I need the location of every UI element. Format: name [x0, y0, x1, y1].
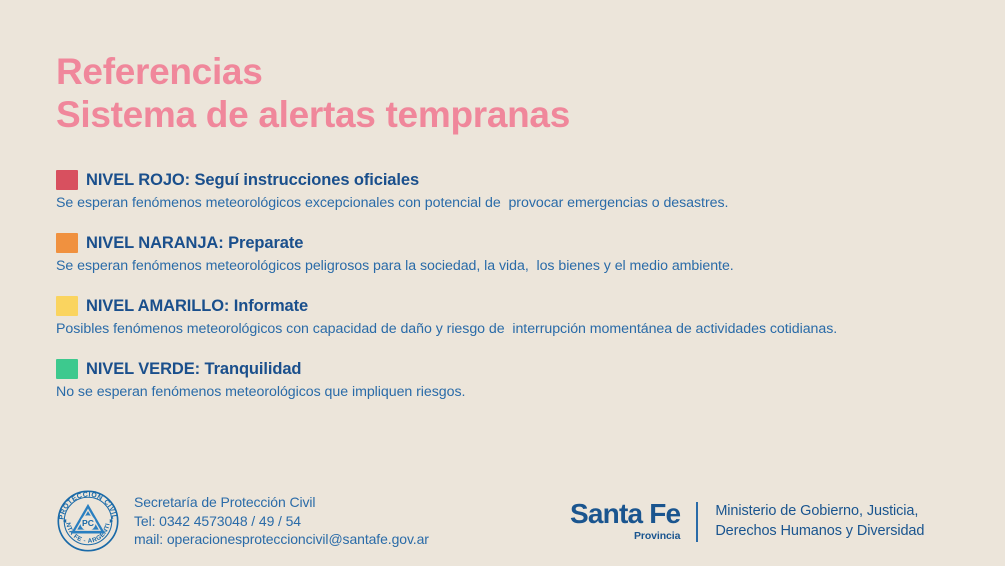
- alert-level-green: NIVEL VERDE: Tranquilidad No se esperan …: [56, 359, 986, 402]
- alert-description-red: Se esperan fenómenos meteorológicos exce…: [56, 194, 986, 213]
- alert-description-yellow: Posibles fenómenos meteorológicos con ca…: [56, 320, 986, 339]
- santafe-government-block: Santa Fe Provincia Ministerio de Gobiern…: [570, 500, 924, 543]
- contact-details: Secretaría de Protección Civil Tel: 0342…: [134, 493, 429, 549]
- alert-levels-list: NIVEL ROJO: Seguí instrucciones oficiale…: [56, 170, 986, 422]
- proteccion-civil-seal-icon: PROTECCIÓN CIVIL SANTA FE - ARGENTINA PC: [55, 488, 121, 554]
- swatch-red-icon: [56, 170, 78, 190]
- santafe-wordmark: Santa Fe: [570, 500, 680, 528]
- ministry-line-2: Derechos Humanos y Diversidad: [715, 522, 924, 542]
- page-title: Referencias Sistema de alertas tempranas: [56, 50, 856, 136]
- alert-header-green: NIVEL VERDE: Tranquilidad: [56, 359, 986, 379]
- santafe-subtitle: Provincia: [634, 530, 680, 543]
- contact-office: Secretaría de Protección Civil: [134, 493, 429, 512]
- title-line-2: Sistema de alertas tempranas: [56, 93, 856, 136]
- title-line-1: Referencias: [56, 50, 856, 93]
- svg-text:PC: PC: [82, 518, 94, 528]
- alert-description-orange: Se esperan fenómenos meteorológicos peli…: [56, 257, 986, 276]
- alert-level-orange: NIVEL NARANJA: Preparate Se esperan fenó…: [56, 233, 986, 276]
- alert-header-red: NIVEL ROJO: Seguí instrucciones oficiale…: [56, 170, 986, 190]
- alert-header-yellow: NIVEL AMARILLO: Informate: [56, 296, 986, 316]
- swatch-green-icon: [56, 359, 78, 379]
- slide-canvas: Referencias Sistema de alertas tempranas…: [0, 0, 1005, 566]
- alert-header-orange: NIVEL NARANJA: Preparate: [56, 233, 986, 253]
- alert-description-green: No se esperan fenómenos meteorológicos q…: [56, 383, 986, 402]
- ministry-name: Ministerio de Gobierno, Justicia, Derech…: [698, 502, 924, 541]
- alert-title-yellow: NIVEL AMARILLO: Informate: [86, 296, 308, 316]
- contact-phone: Tel: 0342 4573048 / 49 / 54: [134, 512, 429, 531]
- footer-contact-block: PROTECCIÓN CIVIL SANTA FE - ARGENTINA PC…: [55, 488, 429, 554]
- alert-title-red: NIVEL ROJO: Seguí instrucciones oficiale…: [86, 170, 419, 190]
- swatch-orange-icon: [56, 233, 78, 253]
- contact-email[interactable]: mail: operacionesproteccioncivil@santafe…: [134, 530, 429, 549]
- alert-level-red: NIVEL ROJO: Seguí instrucciones oficiale…: [56, 170, 986, 213]
- swatch-yellow-icon: [56, 296, 78, 316]
- alert-title-orange: NIVEL NARANJA: Preparate: [86, 233, 303, 253]
- ministry-line-1: Ministerio de Gobierno, Justicia,: [715, 502, 924, 522]
- alert-title-green: NIVEL VERDE: Tranquilidad: [86, 359, 301, 379]
- alert-level-yellow: NIVEL AMARILLO: Informate Posibles fenóm…: [56, 296, 986, 339]
- santafe-logo: Santa Fe Provincia: [570, 500, 696, 543]
